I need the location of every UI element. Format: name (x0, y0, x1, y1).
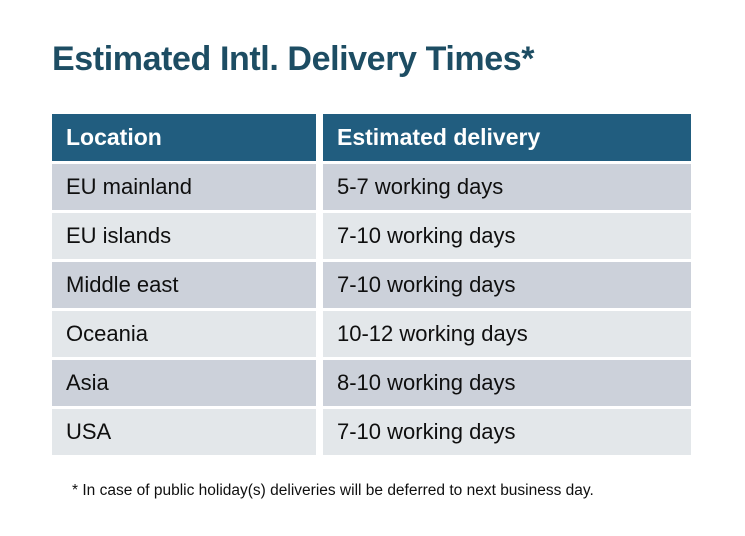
cell-location: EU mainland (52, 164, 316, 210)
cell-location: USA (52, 409, 316, 455)
delivery-times-page: Estimated Intl. Delivery Times* Location… (0, 0, 745, 536)
cell-estimated-delivery: 10-12 working days (323, 311, 691, 357)
cell-location: Middle east (52, 262, 316, 308)
cell-estimated-delivery: 7-10 working days (323, 409, 691, 455)
page-title: Estimated Intl. Delivery Times* (52, 38, 534, 80)
cell-estimated-delivery: 7-10 working days (323, 262, 691, 308)
table-row: Middle east 7-10 working days (52, 262, 691, 308)
cell-estimated-delivery: 7-10 working days (323, 213, 691, 259)
table-header-row: Location Estimated delivery (52, 114, 691, 161)
table-row: USA 7-10 working days (52, 409, 691, 455)
cell-location: EU islands (52, 213, 316, 259)
cell-location: Asia (52, 360, 316, 406)
table-row: EU mainland 5-7 working days (52, 164, 691, 210)
table-row: Oceania 10-12 working days (52, 311, 691, 357)
table-row: Asia 8-10 working days (52, 360, 691, 406)
cell-estimated-delivery: 8-10 working days (323, 360, 691, 406)
cell-estimated-delivery: 5-7 working days (323, 164, 691, 210)
cell-location: Oceania (52, 311, 316, 357)
column-header-location: Location (52, 114, 316, 161)
delivery-times-table: Location Estimated delivery EU mainland … (52, 114, 691, 455)
column-header-estimated-delivery: Estimated delivery (323, 114, 691, 161)
table-row: EU islands 7-10 working days (52, 213, 691, 259)
footnote-text: * In case of public holiday(s) deliverie… (72, 481, 594, 501)
